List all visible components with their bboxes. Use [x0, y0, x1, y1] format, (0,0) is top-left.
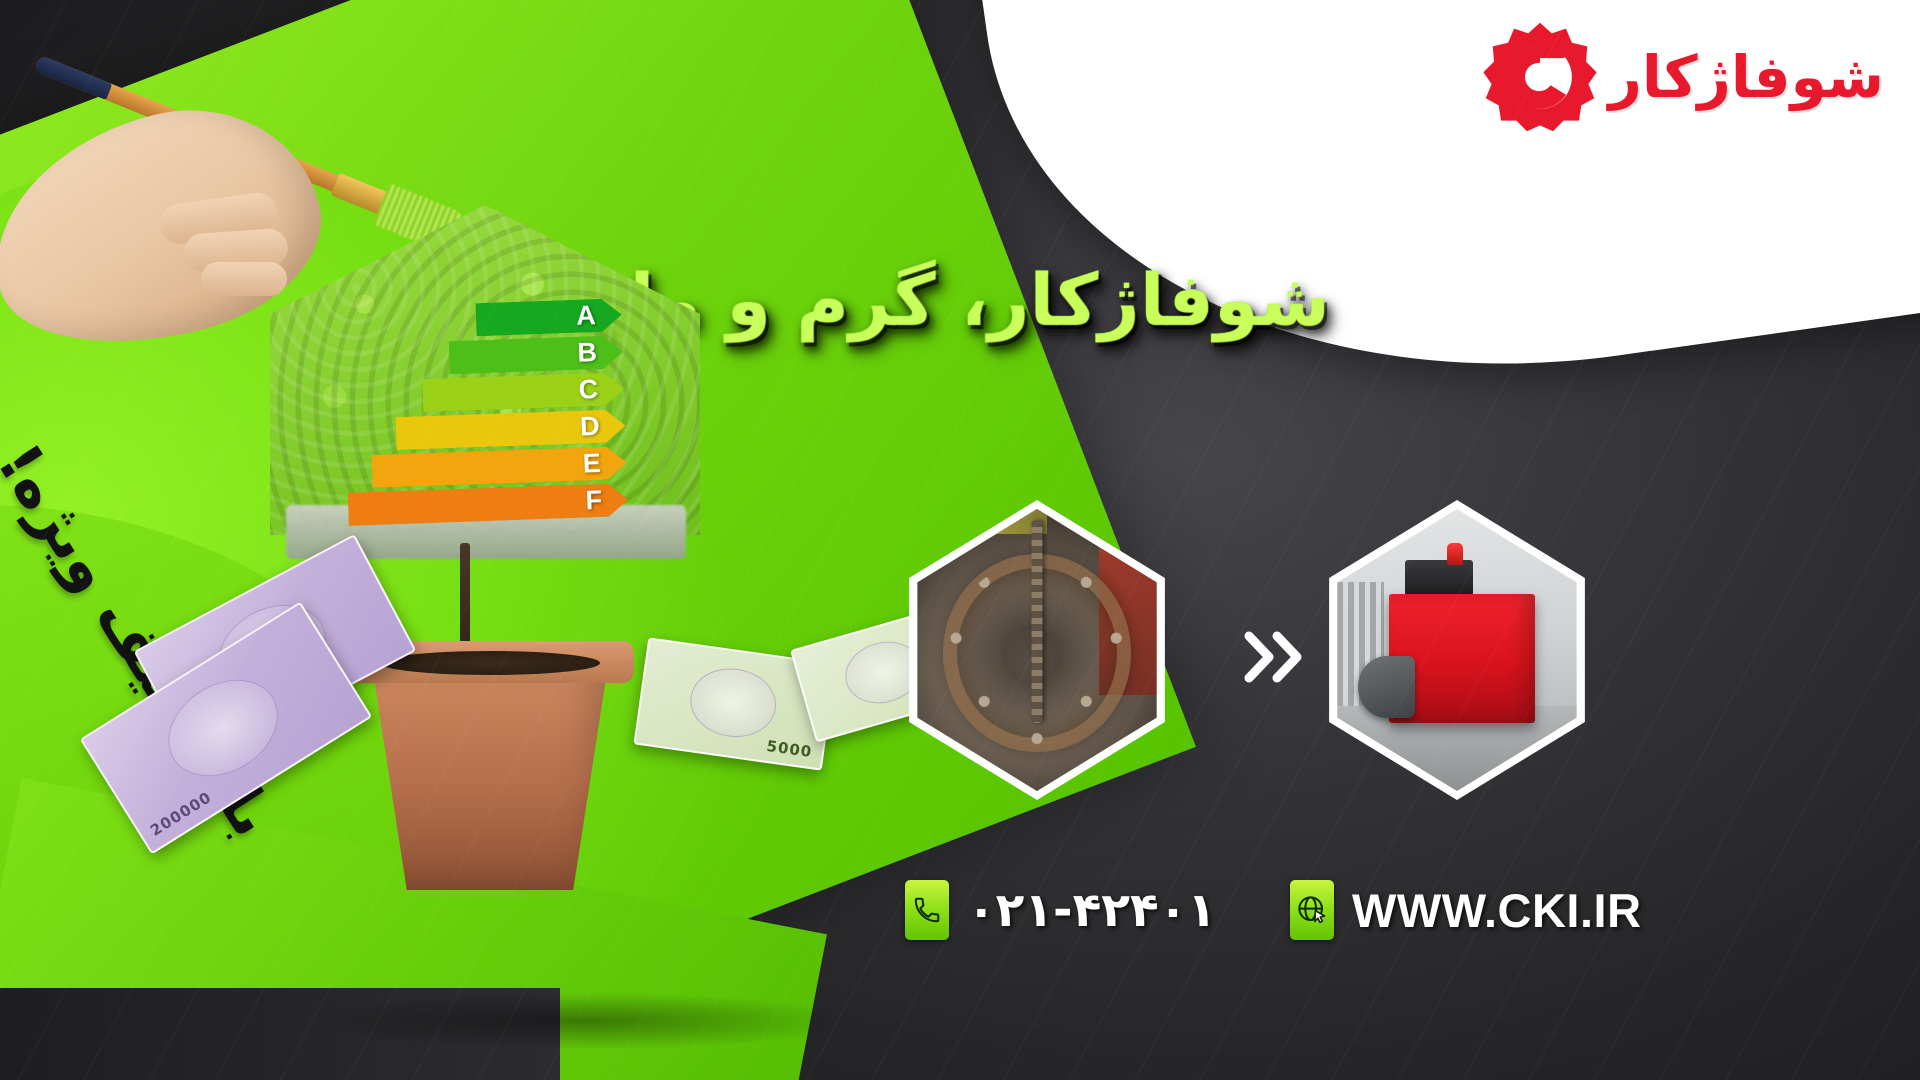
- banknote-oval: [150, 660, 296, 796]
- double-chevron-right-icon: [1243, 630, 1309, 684]
- energy-bar-d: D: [395, 409, 626, 450]
- energy-bar-label: D: [580, 411, 601, 443]
- boiler-indicator-lamp: [1447, 543, 1463, 565]
- energy-bar-f: F: [348, 483, 629, 526]
- globe-cursor-icon: [1290, 880, 1334, 940]
- brush-cap: [34, 55, 113, 100]
- website-url: WWW.CKI.IR: [1352, 883, 1642, 938]
- energy-bar-label: A: [576, 300, 597, 332]
- gear-icon: [1481, 18, 1599, 136]
- banknote-oval: [686, 663, 780, 743]
- new-red-boiler-photo: [1327, 509, 1587, 791]
- energy-bar-b: B: [449, 335, 624, 374]
- boiler-control-panel: [1405, 560, 1473, 597]
- topiary-house-plant: [250, 175, 720, 905]
- energy-bar-e: E: [372, 446, 628, 488]
- after-photo-hexagon[interactable]: [1318, 500, 1596, 800]
- energy-bar-a: A: [476, 298, 623, 336]
- boiler-burner: [1358, 656, 1415, 718]
- energy-bar-label: B: [577, 337, 598, 369]
- logo-text: شوفاژکار: [1609, 48, 1884, 106]
- terracotta-pot: [360, 655, 620, 890]
- phone-icon: [905, 880, 949, 940]
- pot-soil: [380, 651, 600, 675]
- energy-bar-label: F: [585, 485, 603, 517]
- website-contact[interactable]: WWW.CKI.IR: [1290, 880, 1642, 940]
- energy-bar-label: E: [582, 448, 601, 480]
- after-photo-inner: [1327, 509, 1587, 791]
- banknote-value: 5000: [765, 737, 813, 761]
- energy-bar-c: C: [422, 372, 625, 412]
- brand-logo[interactable]: شوفاژکار: [1481, 18, 1884, 136]
- pot-floor-shadow: [300, 992, 860, 1050]
- energy-efficiency-chart: A B C D E F: [341, 298, 629, 528]
- phone-number: ۰۲۱-۴۲۴۰۱: [967, 883, 1216, 938]
- hanging-chain: [1032, 520, 1043, 723]
- phone-contact[interactable]: ۰۲۱-۴۲۴۰۱: [905, 880, 1216, 940]
- ad-banner-stage: شوفاژکار شوفاژکار، گرم و ماندگار: [0, 0, 1920, 1080]
- energy-bar-label: C: [578, 374, 599, 406]
- contact-row: ۰۲۱-۴۲۴۰۱ WWW.CKI.IR: [905, 880, 1642, 940]
